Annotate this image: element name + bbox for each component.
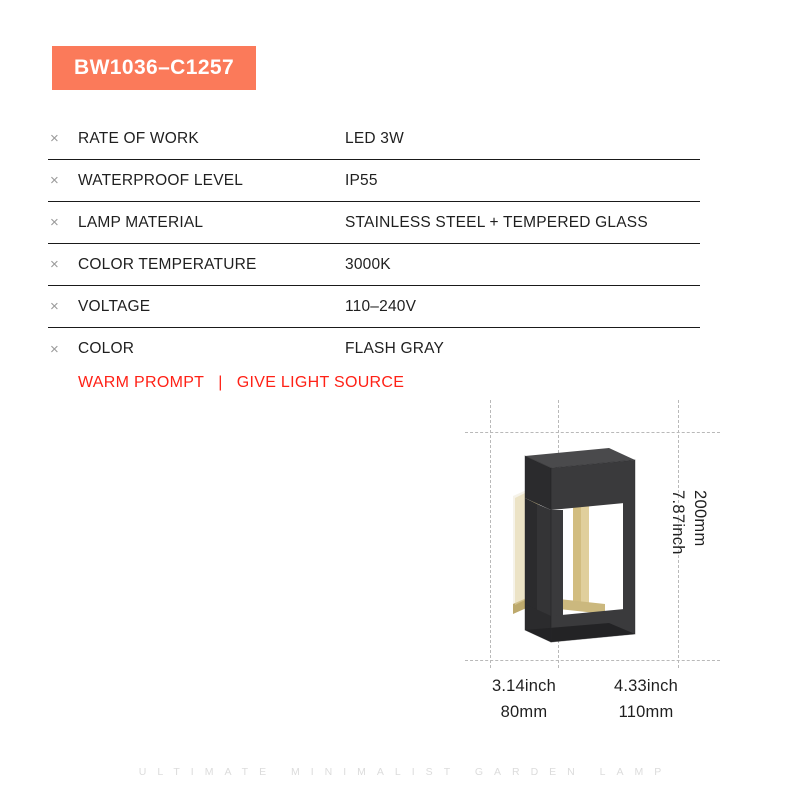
spec-value: STAINLESS STEEL + TEMPERED GLASS: [345, 214, 700, 232]
spec-value: LED 3W: [345, 130, 700, 148]
width-dimension-inch: 4.33inch: [583, 674, 709, 700]
height-dimension-mm: 200mm: [690, 490, 709, 547]
model-code-text: BW1036–C1257: [74, 56, 234, 80]
depth-dimension-mm: 80mm: [461, 700, 587, 726]
table-row: × LAMP MATERIAL STAINLESS STEEL + TEMPER…: [48, 202, 700, 244]
row-bullet-icon: ×: [48, 257, 78, 272]
row-bullet-icon: ×: [48, 342, 78, 357]
guide-line-left: [490, 400, 491, 668]
lamp-illustration: [505, 446, 640, 646]
warm-prompt-title: WARM PROMPT: [78, 374, 204, 392]
table-row: × COLOR TEMPERATURE 3000K: [48, 244, 700, 286]
spec-label: LAMP MATERIAL: [78, 214, 345, 232]
warm-prompt-note: WARM PROMPT | GIVE LIGHT SOURCE: [78, 374, 404, 392]
table-row: × RATE OF WORK LED 3W: [48, 118, 700, 160]
specification-table: × RATE OF WORK LED 3W × WATERPROOF LEVEL…: [48, 118, 700, 370]
guide-line-top: [465, 432, 720, 433]
spec-label: RATE OF WORK: [78, 130, 345, 148]
guide-line-bottom: [465, 660, 720, 661]
row-bullet-icon: ×: [48, 131, 78, 146]
spec-value: FLASH GRAY: [345, 340, 700, 358]
spec-label: WATERPROOF LEVEL: [78, 172, 345, 190]
model-code-badge: BW1036–C1257: [52, 46, 256, 90]
warm-prompt-text: GIVE LIGHT SOURCE: [237, 374, 405, 392]
spec-label: VOLTAGE: [78, 298, 345, 316]
row-bullet-icon: ×: [48, 173, 78, 188]
footer-tagline: ULTIMATE MINIMALIST GARDEN LAMP: [0, 766, 800, 778]
product-dimension-diagram: 7.87inch 200mm 3.14inch 80mm 4.33inch 11…: [455, 398, 765, 738]
row-bullet-icon: ×: [48, 299, 78, 314]
spec-value: 3000K: [345, 256, 700, 274]
height-dimension-inch: 7.87inch: [668, 490, 687, 555]
depth-dimension: 3.14inch 80mm: [461, 674, 587, 725]
row-bullet-icon: ×: [48, 215, 78, 230]
table-row: × WATERPROOF LEVEL IP55: [48, 160, 700, 202]
spec-value: 110–240V: [345, 298, 700, 316]
depth-dimension-inch: 3.14inch: [461, 674, 587, 700]
spec-label: COLOR: [78, 340, 345, 358]
warm-prompt-separator: |: [218, 374, 222, 392]
width-dimension-mm: 110mm: [583, 700, 709, 726]
spec-value: IP55: [345, 172, 700, 190]
width-dimension: 4.33inch 110mm: [583, 674, 709, 725]
spec-label: COLOR TEMPERATURE: [78, 256, 345, 274]
table-row: × COLOR FLASH GRAY: [48, 328, 700, 370]
table-row: × VOLTAGE 110–240V: [48, 286, 700, 328]
